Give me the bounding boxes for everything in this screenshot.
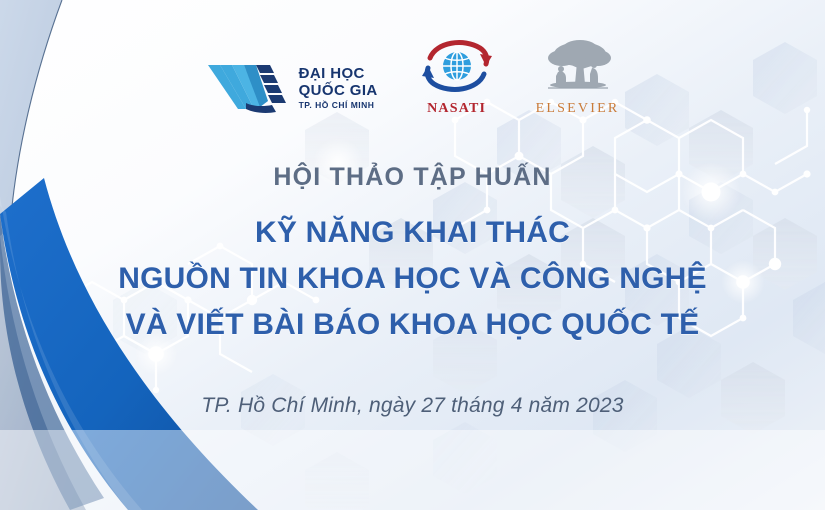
event-kicker: HỘI THẢO TẬP HUẤN [0,163,825,192]
vnu-fan-book-icon [206,59,292,117]
logo-vnu-hcm: ĐẠI HỌC QUỐC GIA TP. HỒ CHÍ MINH [206,59,378,117]
title-line-1: KỸ NĂNG KHAI THÁC [0,216,825,250]
poster-canvas: ĐẠI HỌC QUỐC GIA TP. HỒ CHÍ MINH [0,0,825,510]
nasati-label: NASATI [427,101,486,117]
globe-orbit-arrows-icon [420,36,494,98]
logo-row: ĐẠI HỌC QUỐC GIA TP. HỒ CHÍ MINH [0,36,825,117]
vnu-line1: ĐẠI HỌC [299,66,378,81]
title-line-3: VÀ VIẾT BÀI BÁO KHOA HỌC QUỐC TẾ [0,308,825,342]
logo-elsevier: ELSEVIER [536,38,620,117]
vnu-line2: QUỐC GIA [299,83,378,98]
elsevier-tree-icon [540,38,616,100]
elsevier-label: ELSEVIER [536,101,620,117]
title-line-2: NGUỒN TIN KHOA HỌC VÀ CÔNG NGHỆ [0,262,825,296]
vnu-line3: TP. HỒ CHÍ MINH [299,101,378,110]
logo-nasati: NASATI [420,36,494,117]
date-location: TP. Hồ Chí Minh, ngày 27 tháng 4 năm 202… [0,394,825,418]
